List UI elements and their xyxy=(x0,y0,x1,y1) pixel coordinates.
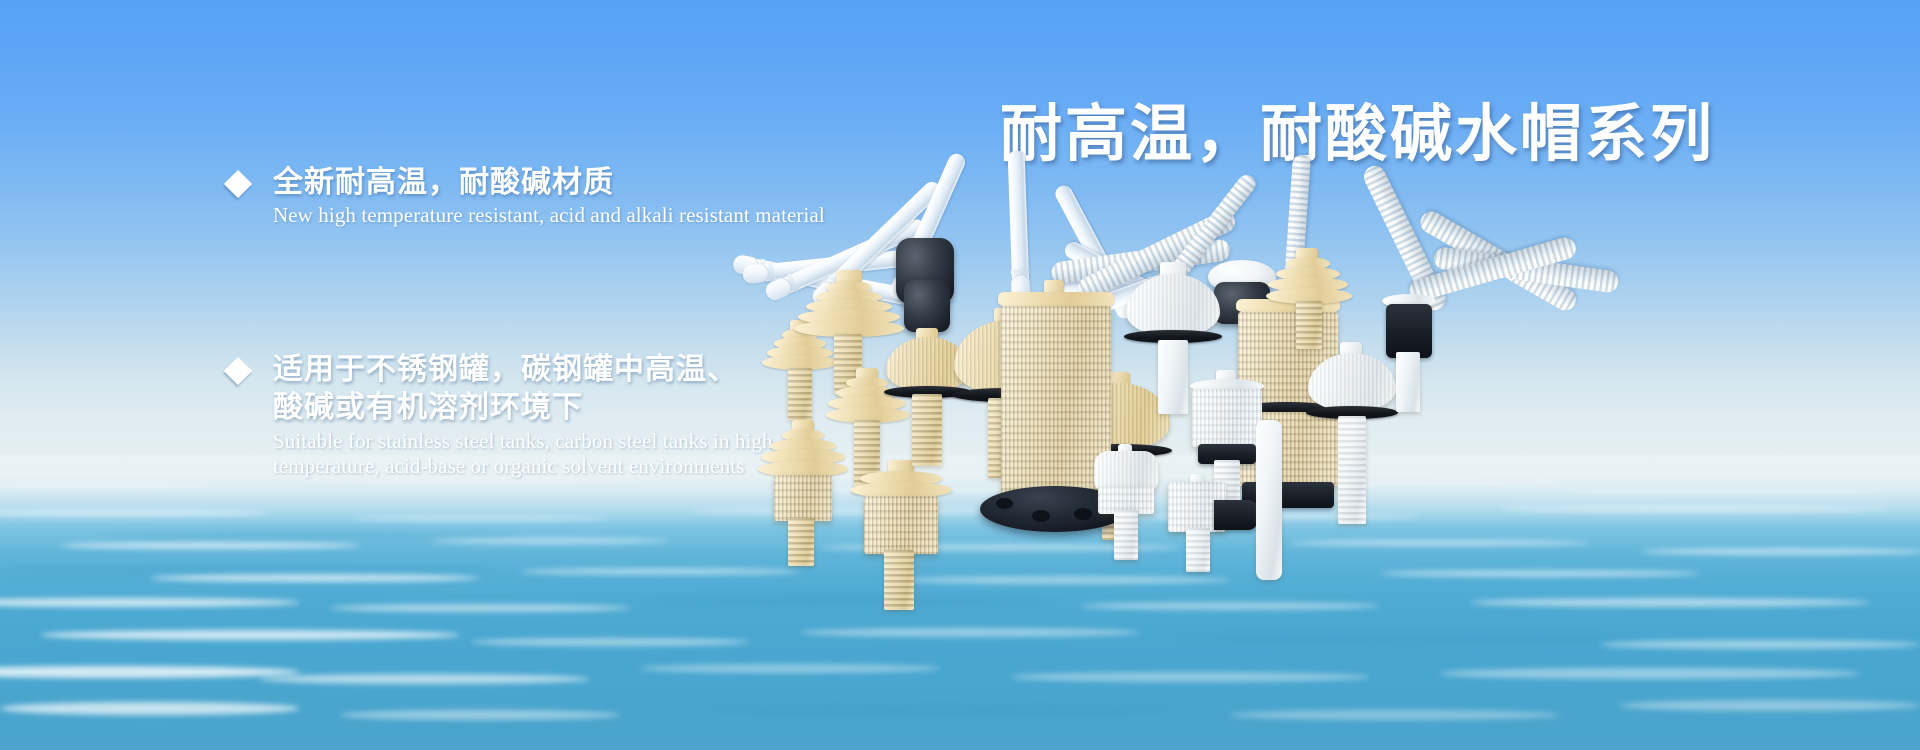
flange-bolt-hole xyxy=(1074,508,1092,520)
nozzle-slotted-body xyxy=(864,496,938,554)
nozzle-threaded-stem xyxy=(1186,528,1210,572)
product-image-group xyxy=(690,120,1480,640)
nozzle-slotted-body xyxy=(774,475,832,521)
nozzle-threaded-stem xyxy=(788,368,812,420)
nozzle-fin-base xyxy=(1214,500,1258,530)
nozzle-threaded-stem xyxy=(1114,510,1138,560)
nozzle-dome xyxy=(1126,274,1220,336)
nozzle-dark-body xyxy=(1386,304,1432,358)
riser-smooth-stem xyxy=(1256,420,1282,580)
distributor-hub-lower xyxy=(904,280,950,332)
nozzle-slotted-body xyxy=(1192,389,1262,447)
diamond-bullet-icon xyxy=(224,170,252,198)
lateral-tube xyxy=(1008,150,1030,301)
diamond-bullet-icon xyxy=(224,357,252,385)
flange-bolt-hole xyxy=(1032,510,1050,522)
nozzle-dome xyxy=(1308,353,1396,411)
nozzle-threaded-stem xyxy=(884,550,914,610)
nozzle-smooth-stem xyxy=(1158,340,1188,414)
nozzle-smooth-stem xyxy=(1396,352,1420,412)
nozzle-threaded-stem xyxy=(1296,301,1322,349)
product-banner: 耐高温，耐酸碱水帽系列 全新耐高温，耐酸碱材质 New high tempera… xyxy=(0,0,1920,750)
nozzle-threaded-stem xyxy=(912,394,942,466)
flange-bolt-hole xyxy=(996,498,1013,509)
nozzle-dome xyxy=(1094,451,1158,491)
nozzle-threaded-stem xyxy=(788,518,814,566)
nozzle-threaded-stem xyxy=(1338,416,1366,524)
